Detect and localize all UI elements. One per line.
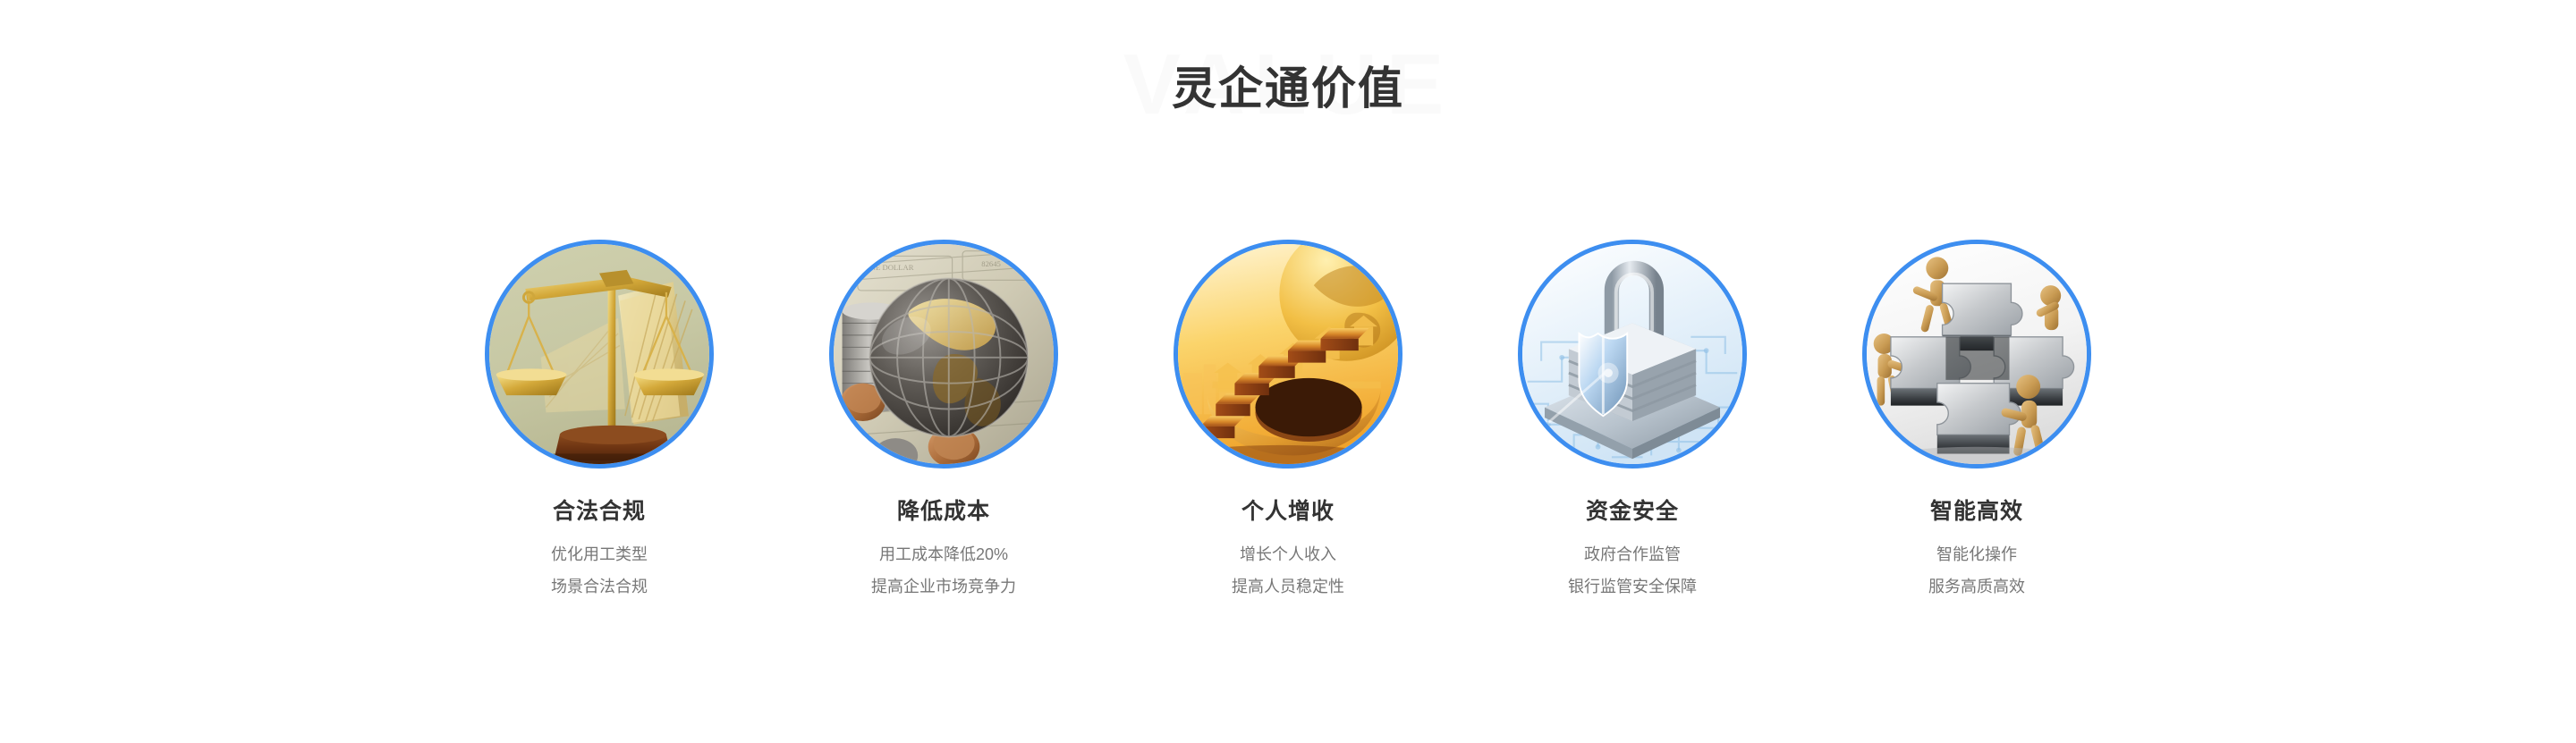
- value-card-personal-income[interactable]: 个人增收 增长个人收入 提高人员稳定性: [1172, 240, 1404, 596]
- card-line: 提高人员稳定性: [1232, 577, 1344, 597]
- card-line: 优化用工类型: [551, 545, 648, 565]
- card-title: 个人增收: [1241, 501, 1335, 523]
- value-proposition-section: VALUE 灵企通价值: [0, 0, 2576, 743]
- card-image-frame: ONE DOLLAR 82645: [829, 240, 1058, 469]
- card-image-frame: [485, 240, 714, 469]
- card-image-frame: [1174, 240, 1402, 469]
- golden-stairs-icon: [1178, 244, 1398, 464]
- card-image-frame: [1862, 240, 2091, 469]
- card-line: 政府合作监管: [1584, 545, 1681, 565]
- card-description: 增长个人收入 提高人员稳定性: [1232, 545, 1344, 596]
- value-card-smart-efficiency[interactable]: 智能高效 智能化操作 服务高质高效: [1860, 240, 2093, 596]
- card-line: 增长个人收入: [1240, 545, 1336, 565]
- value-card-compliance[interactable]: 合法合规 优化用工类型 场景合法合规: [483, 240, 716, 596]
- card-title: 智能高效: [1930, 501, 2023, 523]
- card-line: 服务高质高效: [1928, 577, 2025, 597]
- globe-money-icon: ONE DOLLAR 82645: [834, 244, 1054, 464]
- card-description: 智能化操作 服务高质高效: [1928, 545, 2025, 596]
- value-card-fund-security[interactable]: 资金安全 政府合作监管 银行监管安全保障: [1516, 240, 1749, 596]
- title-stack: VALUE 灵企通价值: [1172, 39, 1404, 138]
- svg-text:ONE DOLLAR: ONE DOLLAR: [865, 263, 914, 272]
- card-description: 优化用工类型 场景合法合规: [551, 545, 648, 596]
- card-line: 智能化操作: [1936, 545, 2017, 565]
- card-description: 用工成本降低20% 提高企业市场竞争力: [871, 545, 1016, 596]
- card-title: 合法合规: [553, 501, 646, 523]
- scales-of-justice-icon: [489, 244, 709, 464]
- card-title: 资金安全: [1586, 501, 1679, 523]
- section-header: VALUE 灵企通价值: [0, 39, 2576, 138]
- puzzle-teamwork-icon: [1867, 244, 2087, 464]
- card-title: 降低成本: [897, 501, 990, 523]
- value-cards-row: 合法合规 优化用工类型 场景合法合规: [483, 240, 2093, 596]
- card-line: 银行监管安全保障: [1568, 577, 1697, 597]
- card-description: 政府合作监管 银行监管安全保障: [1568, 545, 1697, 596]
- page-title: 灵企通价值: [1172, 66, 1404, 111]
- card-line: 用工成本降低20%: [879, 545, 1008, 565]
- card-line: 场景合法合规: [551, 577, 648, 597]
- padlock-shield-icon: [1522, 244, 1742, 464]
- card-line: 提高企业市场竞争力: [871, 577, 1016, 597]
- value-card-cost-reduction[interactable]: ONE DOLLAR 82645: [827, 240, 1060, 596]
- card-image-frame: [1518, 240, 1747, 469]
- svg-text:82645: 82645: [981, 259, 1001, 268]
